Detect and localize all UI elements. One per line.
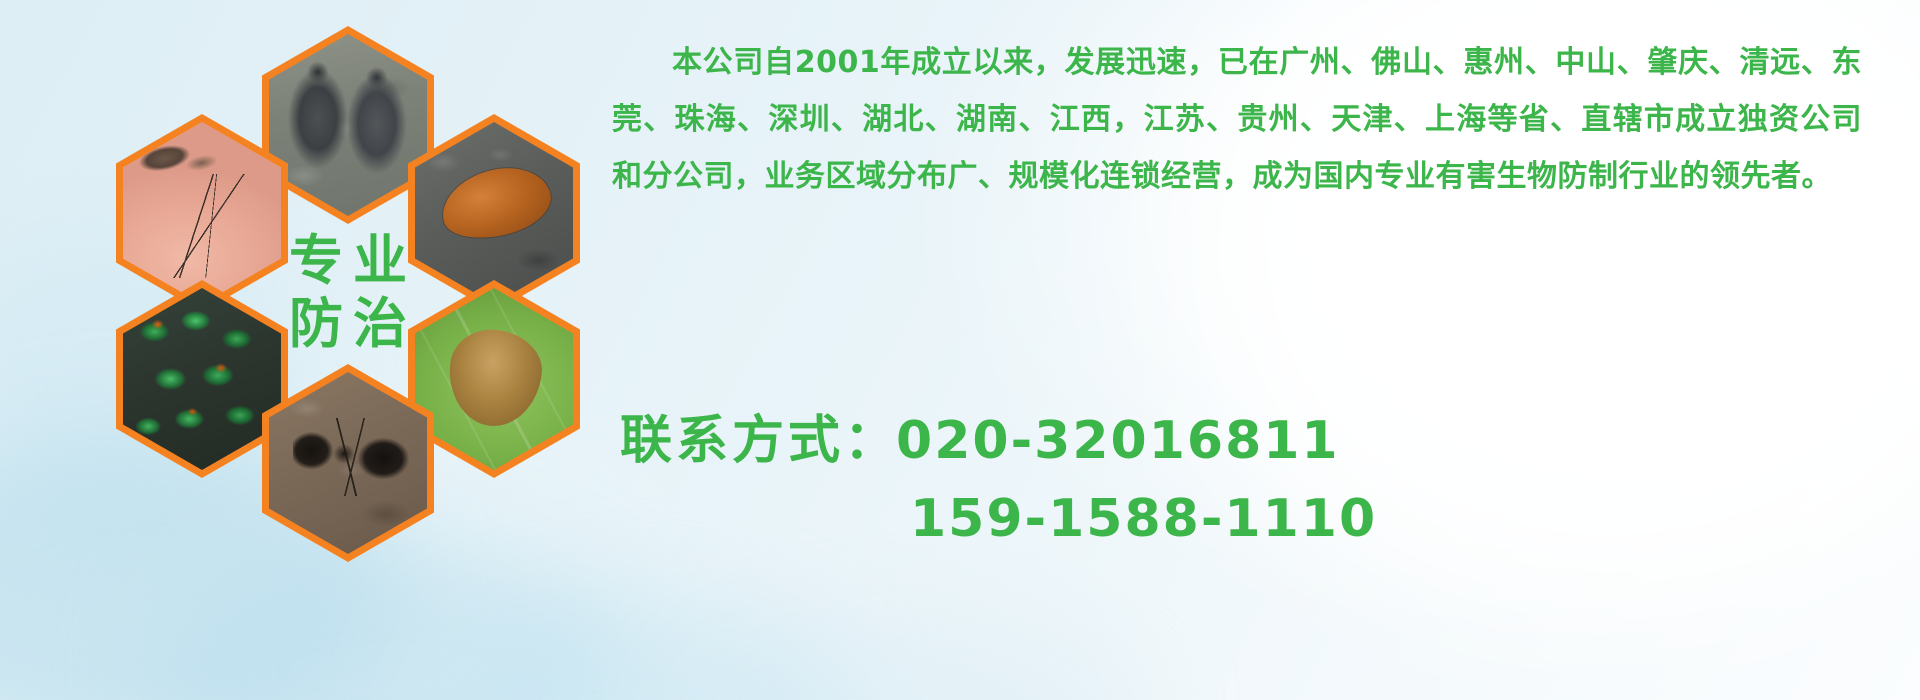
about-copy-block: 本公司自2001年成立以来，发展迅速，已在广州、佛山、惠州、中山、肇庆、清远、东… bbox=[612, 34, 1892, 205]
contact-label: 联系方式 bbox=[620, 411, 844, 471]
slogan-line-2: 防治 bbox=[279, 296, 417, 353]
background-blob-3 bbox=[420, 600, 840, 700]
rats-photo bbox=[269, 34, 427, 216]
promo-banner: 专业 防治 本公司自2001年成立以来，发展迅速，已在广州、佛山、惠州、中山、肇… bbox=[0, 0, 1920, 700]
ant-photo bbox=[269, 372, 427, 554]
phone-secondary[interactable]: 159-1588-1110 bbox=[910, 489, 1377, 549]
about-paragraph: 本公司自2001年成立以来，发展迅速，已在广州、佛山、惠州、中山、肇庆、清远、东… bbox=[612, 34, 1862, 205]
flies-photo bbox=[123, 288, 281, 470]
slogan-hex-center: 专业 防治 bbox=[262, 194, 434, 392]
slogan-line-1: 专业 bbox=[279, 233, 417, 290]
contact-block: 联系方式：020-32016811 159-1588-1110 bbox=[620, 402, 1900, 558]
phone-primary[interactable]: 020-32016811 bbox=[896, 411, 1340, 471]
contact-colon: ： bbox=[844, 411, 896, 471]
contact-primary-line: 联系方式：020-32016811 bbox=[620, 402, 1900, 480]
cockroach-photo bbox=[415, 122, 573, 304]
contact-secondary-line: 159-1588-1110 bbox=[620, 480, 1900, 558]
background-blob-5 bbox=[690, 620, 1150, 700]
hexagon-pest-collage: 专业 防治 bbox=[96, 8, 596, 568]
mosquito-photo bbox=[123, 122, 281, 304]
stink-bug-photo bbox=[415, 288, 573, 470]
